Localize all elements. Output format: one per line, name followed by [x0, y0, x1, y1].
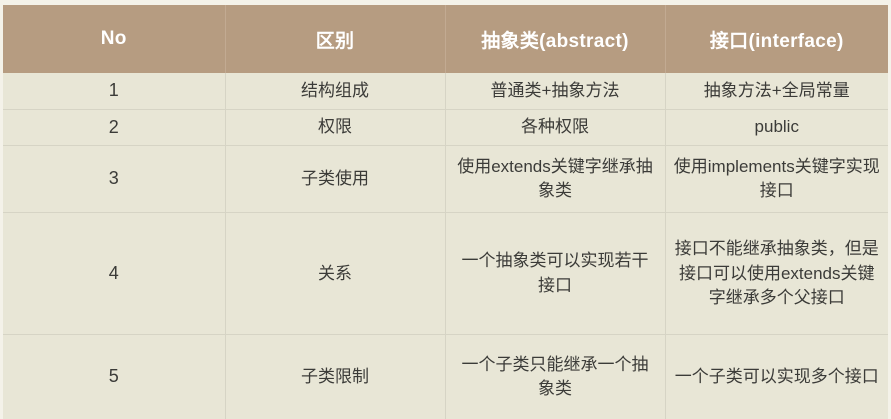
cell-category: 子类限制	[225, 335, 445, 419]
column-header-no: No	[3, 5, 225, 73]
table-body: 1 结构组成 普通类+抽象方法 抽象方法+全局常量 2 权限 各种权限 publ…	[3, 73, 888, 419]
table-row: 3 子类使用 使用extends关键字继承抽象类 使用implements关键字…	[3, 146, 888, 213]
table-row: 4 关系 一个抽象类可以实现若干接口 接口不能继承抽象类，但是接口可以使用ext…	[3, 213, 888, 335]
cell-no: 3	[3, 146, 225, 213]
cell-abstract: 一个抽象类可以实现若干接口	[445, 213, 665, 335]
cell-interface: 使用implements关键字实现接口	[665, 146, 888, 213]
table-header: No 区别 抽象类(abstract) 接口(interface)	[3, 5, 888, 73]
cell-category: 关系	[225, 213, 445, 335]
column-header-interface: 接口(interface)	[665, 5, 888, 73]
cell-abstract: 使用extends关键字继承抽象类	[445, 146, 665, 213]
cell-no: 2	[3, 109, 225, 146]
cell-no: 4	[3, 213, 225, 335]
cell-interface: public	[665, 109, 888, 146]
cell-interface: 接口不能继承抽象类，但是接口可以使用extends关键字继承多个父接口	[665, 213, 888, 335]
column-header-category: 区别	[225, 5, 445, 73]
table-row: 5 子类限制 一个子类只能继承一个抽象类 一个子类可以实现多个接口	[3, 335, 888, 419]
cell-no: 1	[3, 73, 225, 109]
cell-category: 结构组成	[225, 73, 445, 109]
cell-no: 5	[3, 335, 225, 419]
table-row: 2 权限 各种权限 public	[3, 109, 888, 146]
table-row: 1 结构组成 普通类+抽象方法 抽象方法+全局常量	[3, 73, 888, 109]
comparison-table-container: No 区别 抽象类(abstract) 接口(interface) 1 结构组成…	[3, 5, 888, 407]
cell-interface: 一个子类可以实现多个接口	[665, 335, 888, 419]
cell-abstract: 各种权限	[445, 109, 665, 146]
cell-abstract: 普通类+抽象方法	[445, 73, 665, 109]
cell-interface: 抽象方法+全局常量	[665, 73, 888, 109]
comparison-table: No 区别 抽象类(abstract) 接口(interface) 1 结构组成…	[3, 5, 888, 419]
table-header-row: No 区别 抽象类(abstract) 接口(interface)	[3, 5, 888, 73]
cell-category: 权限	[225, 109, 445, 146]
column-header-abstract: 抽象类(abstract)	[445, 5, 665, 73]
cell-abstract: 一个子类只能继承一个抽象类	[445, 335, 665, 419]
cell-category: 子类使用	[225, 146, 445, 213]
